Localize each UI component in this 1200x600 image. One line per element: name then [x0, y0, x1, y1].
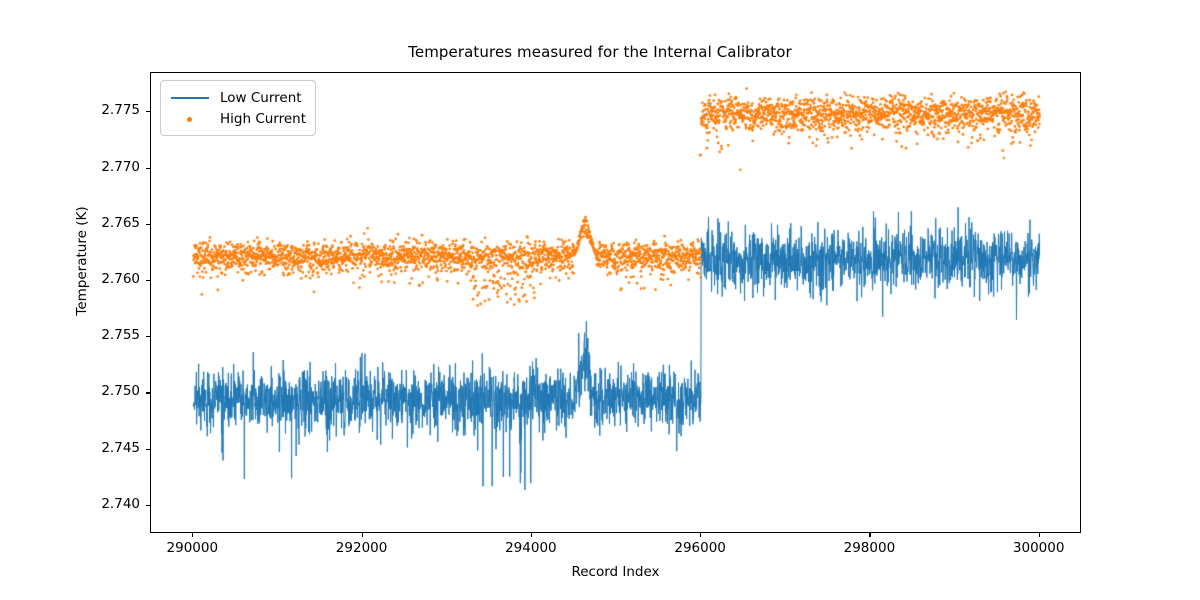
x-axis-tick-label: 294000	[505, 540, 557, 556]
x-axis-tick-mark	[531, 533, 532, 537]
plot-area	[150, 72, 1081, 533]
x-axis-tick-label: 298000	[844, 540, 896, 556]
x-axis-tick-mark	[869, 533, 870, 537]
x-axis-tick-label: 292000	[336, 540, 388, 556]
x-axis-label: Record Index	[150, 564, 1081, 580]
legend-key-line-icon	[168, 91, 212, 105]
legend-item-low-current: Low Current	[168, 87, 306, 108]
legend-label: Low Current	[220, 90, 302, 106]
y-axis-tick-label: 2.770	[101, 159, 140, 175]
x-axis-tick-label: 300000	[1013, 540, 1065, 556]
legend-key-dot-icon	[168, 112, 212, 126]
x-axis-tick-mark	[700, 533, 701, 537]
x-axis-tick-label: 296000	[674, 540, 726, 556]
y-axis-tick-label: 2.760	[101, 271, 140, 287]
y-axis-tick-label: 2.765	[101, 215, 140, 231]
page-title: Temperatures measured for the Internal C…	[0, 43, 1200, 61]
legend: Low Current High Current	[160, 80, 316, 136]
x-axis-tick-label: 290000	[167, 540, 219, 556]
x-axis-tick-mark	[1039, 533, 1040, 537]
matplotlib-figure: Temperatures measured for the Internal C…	[0, 0, 1200, 600]
y-axis-tick-label: 2.775	[101, 102, 140, 118]
y-axis-tick-label: 2.750	[101, 383, 140, 399]
legend-item-high-current: High Current	[168, 108, 306, 129]
y-axis-tick-label: 2.755	[101, 327, 140, 343]
legend-label: High Current	[220, 111, 306, 127]
x-axis-tick-mark	[192, 533, 193, 537]
y-axis-tick-label: 2.745	[101, 440, 140, 456]
y-axis-label: Temperature (K)	[74, 161, 90, 361]
y-axis-tick-label: 2.740	[101, 496, 140, 512]
series-canvas	[151, 73, 1081, 533]
x-axis-tick-mark	[362, 533, 363, 537]
